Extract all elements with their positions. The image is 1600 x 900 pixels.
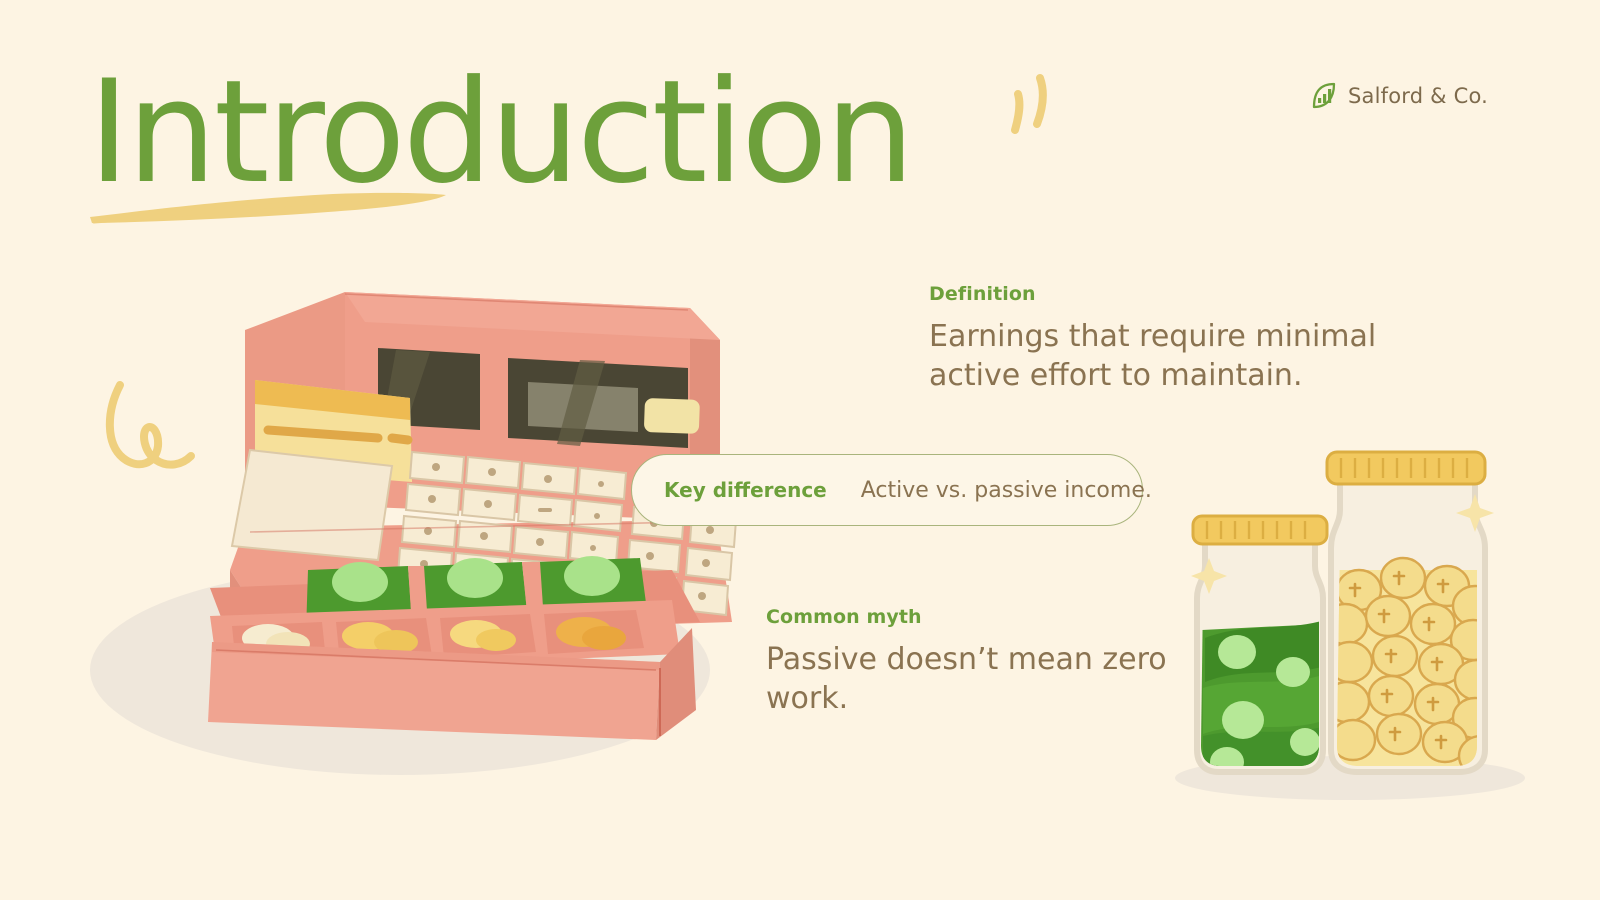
common-myth-block: Common myth Passive doesn’t mean zero wo… — [766, 606, 1186, 718]
brand-name: Salford & Co. — [1348, 84, 1488, 108]
leaf-bar-chart-icon — [1311, 82, 1337, 110]
common-myth-kicker: Common myth — [766, 606, 1186, 628]
key-difference-label: Key difference — [664, 478, 827, 502]
definition-block: Definition Earnings that require minimal… — [929, 283, 1379, 395]
definition-body: Earnings that require minimal active eff… — [929, 317, 1379, 395]
slide-canvas: Introduction Salford & Co. — [0, 0, 1600, 900]
coin-jar — [1323, 452, 1503, 776]
money-jars-illustration — [1145, 420, 1545, 800]
page-title: Introduction — [88, 58, 1068, 248]
bill-jar — [1191, 516, 1327, 777]
definition-kicker: Definition — [929, 283, 1379, 305]
brand-logo: Salford & Co. — [1311, 82, 1488, 110]
key-difference-value: Active vs. passive income. — [861, 478, 1152, 503]
key-difference-card[interactable]: Key difference Active vs. passive income… — [631, 454, 1143, 526]
cash-register-illustration — [60, 270, 760, 790]
yellow-arc-swoosh-icon — [985, 72, 1055, 152]
common-myth-body: Passive doesn’t mean zero work. — [766, 640, 1186, 718]
page-title-text: Introduction — [88, 58, 912, 208]
